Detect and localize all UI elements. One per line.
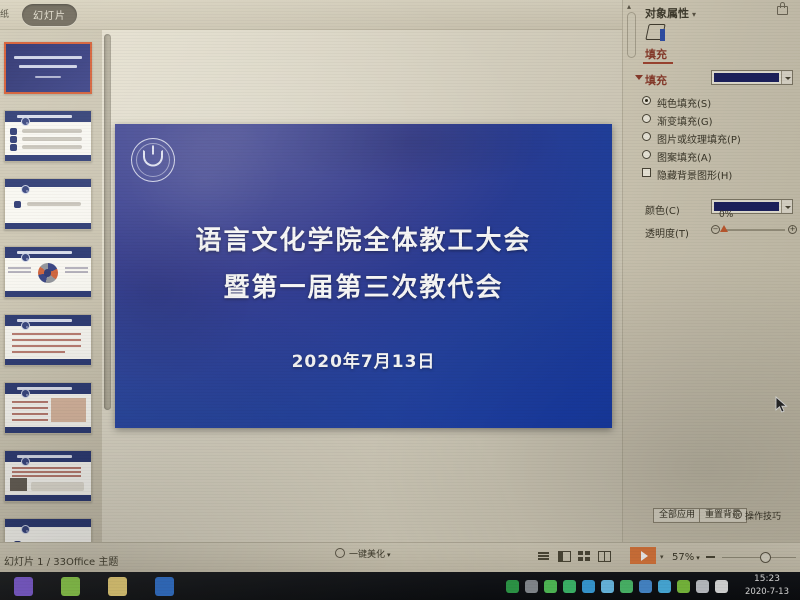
university-seal-logo: [131, 138, 175, 182]
thumbnail-slide-5[interactable]: [4, 314, 92, 366]
radio-pattern-fill[interactable]: [642, 150, 651, 159]
taskbar-app-wps[interactable]: [141, 572, 188, 600]
object-properties-pane: ▴ 对象属性▾ 填充 填充 纯色填充(S) 渐变填充(G): [622, 0, 800, 542]
option-solid-fill[interactable]: 纯色填充(S): [657, 95, 711, 110]
pane-title-text: 对象属性: [645, 7, 689, 20]
chevron-down-icon[interactable]: ▾: [387, 551, 391, 559]
thumb-header: [5, 315, 91, 326]
lock-icon[interactable]: [777, 6, 788, 15]
taskbar-app-notes[interactable]: [94, 572, 141, 600]
slide-thumbnail-rail[interactable]: [0, 30, 102, 542]
theme-label[interactable]: Office 主题: [66, 553, 118, 568]
thumb-footer: [5, 155, 91, 162]
wps-presentation-window: 纸 幻灯片: [0, 0, 800, 572]
help-ring-icon: [733, 510, 742, 519]
system-tray[interactable]: [506, 572, 728, 600]
slideshow-dropdown-icon[interactable]: ▾: [660, 553, 664, 561]
option-gradient-fill-label: 渐变填充(G): [657, 117, 713, 128]
tray-icon-cloud[interactable]: [563, 580, 576, 593]
fill-section-label: 填充: [645, 74, 667, 87]
option-picture-fill[interactable]: 图片或纹理填充(P): [657, 131, 741, 146]
collapse-pane-handle[interactable]: [627, 12, 636, 58]
operation-tips-label: 操作技巧: [745, 512, 781, 522]
monitor-photo: 纸 幻灯片: [0, 0, 800, 600]
thumb-seal-icon: [21, 321, 30, 330]
option-hide-background-shape[interactable]: 隐藏背景图形(H): [657, 167, 732, 182]
taskbar-clock[interactable]: 15:23 2020-7-13: [738, 573, 796, 599]
thumbnail-slide-8[interactable]: [4, 518, 92, 542]
normal-view-button[interactable]: [558, 551, 571, 562]
zoom-level-value: 57%: [672, 552, 694, 563]
thumb-line: [19, 65, 76, 68]
thumb-header: [5, 383, 91, 394]
slide-date-text[interactable]: 2020年7月13日: [115, 347, 612, 372]
thumb-line: [35, 76, 62, 78]
tab-fill-underline: [643, 62, 673, 64]
chevron-down-icon[interactable]: ▾: [696, 554, 700, 562]
thumb-seal-icon: [21, 185, 30, 194]
thumb-seal-icon: [21, 525, 30, 534]
tray-icon-manager[interactable]: [639, 580, 652, 593]
tray-icon-plus[interactable]: [677, 580, 690, 593]
checkbox-hide-bg-shape[interactable]: [642, 168, 651, 177]
notes-app-icon: [108, 577, 127, 596]
clock-date: 2020-7-13: [738, 586, 796, 599]
taskbar-app-wechat[interactable]: [47, 572, 94, 600]
transparency-value: 0%: [719, 210, 733, 220]
option-pattern-fill[interactable]: 图案填充(A): [657, 149, 712, 164]
radio-gradient-fill[interactable]: [642, 114, 651, 123]
thumb-header: [5, 451, 91, 462]
tray-icon-security[interactable]: [506, 580, 519, 593]
option-solid-fill-label: 纯色填充(S): [657, 99, 711, 110]
thumbnail-slide-3[interactable]: [4, 178, 92, 230]
color-label: 颜色(C): [645, 202, 680, 217]
tray-icon-mail[interactable]: [582, 580, 595, 593]
option-pattern-fill-label: 图案填充(A): [657, 153, 712, 164]
slide-title-line-1[interactable]: 语言文化学院全体教工大会: [115, 220, 612, 257]
thumbnail-slide-4[interactable]: [4, 246, 92, 298]
thumb-diagram-icon: [38, 263, 58, 283]
fill-color-swatch: [714, 73, 779, 82]
decrease-transparency-button[interactable]: −: [711, 225, 720, 234]
taskbar-app-buttons[interactable]: [0, 572, 188, 600]
thumb-seal-icon: [21, 117, 30, 126]
beautify-icon: [335, 548, 345, 558]
thumb-footer: [5, 291, 91, 298]
thumb-photo: [51, 398, 85, 422]
clock-time: 15:23: [738, 573, 796, 586]
tray-icon-battery[interactable]: [544, 580, 557, 593]
thumbnail-slide-7[interactable]: [4, 450, 92, 502]
pane-caret-icon[interactable]: ▴: [627, 2, 631, 11]
chevron-down-icon[interactable]: [781, 200, 792, 213]
slide-sorter-button[interactable]: [578, 551, 591, 562]
tab-fill[interactable]: 填充: [645, 46, 667, 62]
pane-footer: 全部应用 重置背景 操作技巧: [623, 508, 800, 528]
slider-track[interactable]: [723, 229, 785, 231]
thumb-footer: [5, 223, 91, 230]
thumb-footer: [5, 427, 91, 434]
thumb-seal-icon: [21, 389, 30, 398]
wechat-icon: [61, 577, 80, 596]
start-slideshow-button[interactable]: [630, 547, 656, 564]
view-mode-buttons[interactable]: [538, 551, 611, 562]
slide-title-line-2[interactable]: 暨第一届第三次教代会: [115, 267, 612, 304]
fill-section-header[interactable]: 填充: [645, 72, 667, 88]
thumb-footer: [5, 495, 91, 502]
current-slide[interactable]: 语言文化学院全体教工大会 暨第一届第三次教代会 2020年7月13日: [115, 124, 612, 428]
beautify-button[interactable]: 一键美化▾: [349, 547, 391, 560]
zoom-level-label[interactable]: 57%▾: [672, 552, 700, 563]
operation-tips-link[interactable]: 操作技巧: [745, 509, 781, 522]
rail-scrollbar[interactable]: [104, 34, 111, 410]
prev-tab-partial[interactable]: 纸: [0, 7, 9, 20]
tray-icon-shield[interactable]: [620, 580, 633, 593]
slide-count-label: 幻灯片 1 / 33: [4, 553, 66, 568]
browser-icon: [14, 577, 33, 596]
tray-icon-monitor[interactable]: [696, 580, 709, 593]
status-bar: 幻灯片 1 / 33 Office 主题 一键美化▾ ▾ 57%▾: [0, 542, 800, 572]
tray-icon-capture[interactable]: [525, 580, 538, 593]
thumb-seal-icon: [21, 457, 30, 466]
option-gradient-fill[interactable]: 渐变填充(G): [657, 113, 713, 128]
chevron-down-icon[interactable]: ▾: [692, 10, 696, 19]
thumb-seal-icon: [21, 253, 30, 262]
increase-transparency-button[interactable]: +: [788, 225, 797, 234]
slider-knob[interactable]: [720, 225, 728, 232]
thumb-photo: [10, 478, 27, 491]
radio-solid-fill[interactable]: [642, 96, 651, 105]
outline-view-button[interactable]: [538, 551, 551, 562]
radio-picture-fill[interactable]: [642, 132, 651, 141]
tray-icon-music[interactable]: [658, 580, 671, 593]
thumb-footer: [5, 359, 91, 366]
ribbon-tab-strip: 纸 幻灯片: [0, 0, 622, 30]
reading-view-button[interactable]: [598, 551, 611, 562]
tray-icon-volume[interactable]: [715, 580, 728, 593]
beautify-label: 一键美化: [349, 550, 385, 560]
zoom-out-button[interactable]: [706, 556, 715, 558]
pane-title[interactable]: 对象属性▾: [645, 5, 696, 21]
transparency-slider[interactable]: − +: [711, 222, 797, 236]
taskbar-app-browser[interactable]: [0, 572, 47, 600]
thumb-header: [5, 111, 91, 122]
transparency-label: 透明度(T): [645, 225, 689, 240]
zoom-slider-knob[interactable]: [760, 552, 771, 563]
thumbnail-slide-1[interactable]: [4, 42, 92, 94]
windows-taskbar[interactable]: 15:23 2020-7-13: [0, 572, 800, 600]
thumbnail-slide-6[interactable]: [4, 382, 92, 434]
tray-icon-bell[interactable]: [601, 580, 614, 593]
thumb-line: [14, 56, 81, 59]
option-hide-bg-label: 隐藏背景图形(H): [657, 171, 732, 182]
zoom-slider-track[interactable]: [722, 557, 796, 558]
fill-color-combo[interactable]: [711, 70, 793, 85]
expand-triangle-icon: [635, 75, 643, 80]
play-icon: [641, 551, 648, 561]
tab-slideshow[interactable]: 幻灯片: [22, 4, 77, 26]
fill-shape-icon[interactable]: [647, 24, 664, 40]
apply-all-button[interactable]: 全部应用: [653, 508, 701, 523]
thumb-header: [5, 247, 91, 258]
chevron-down-icon[interactable]: [781, 71, 792, 84]
option-picture-fill-label: 图片或纹理填充(P): [657, 135, 741, 146]
thumbnail-slide-2[interactable]: [4, 110, 92, 162]
wps-icon: [155, 577, 174, 596]
